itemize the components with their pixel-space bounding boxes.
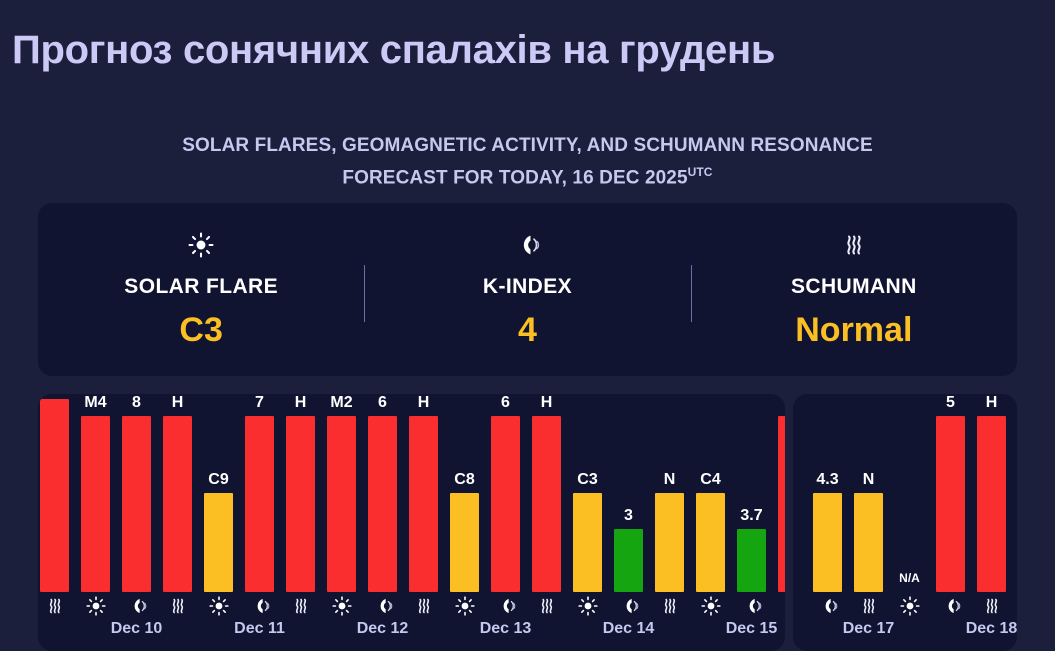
summary-value: 4 — [518, 311, 537, 350]
bar-group: 4.3NN/A — [807, 394, 930, 592]
magnet-icon — [243, 596, 276, 616]
bar[interactable] — [936, 416, 965, 592]
bar[interactable] — [450, 493, 479, 592]
date-row: Dec 17 — [807, 620, 930, 651]
subtitle-line-1: SOLAR FLARES, GEOMAGNETIC ACTIVITY, AND … — [0, 132, 1055, 159]
schumann-icon — [776, 596, 785, 616]
bar[interactable] — [327, 416, 356, 592]
sun-icon — [79, 596, 112, 616]
schumann-icon — [284, 596, 317, 616]
bar-slot[interactable]: C8 — [448, 394, 481, 592]
bar-value-label: H — [172, 394, 184, 411]
date-label: Dec 10 — [111, 620, 163, 638]
bar-slot[interactable]: H — [161, 394, 194, 592]
bar-group: C33N — [567, 394, 690, 592]
bar[interactable] — [532, 416, 561, 592]
schumann-icon — [653, 596, 686, 616]
sun-icon — [571, 596, 604, 616]
metric-icon-row — [198, 592, 321, 620]
date-row: Dec 15 — [690, 620, 785, 651]
schumann-icon — [841, 225, 867, 265]
summary-cell-k-index: K-INDEX4 — [364, 203, 690, 376]
bar[interactable] — [163, 416, 192, 592]
date-label: Dec 15 — [726, 620, 778, 638]
day-column[interactable]: C33NDec 14 — [567, 394, 690, 651]
bar[interactable] — [40, 399, 69, 592]
sun-icon — [202, 596, 235, 616]
magnet-icon — [735, 596, 768, 616]
date-label: Dec 13 — [480, 620, 532, 638]
bar-value-label: H — [541, 394, 553, 411]
date-row: Dec 18 — [930, 620, 1017, 651]
bar-slot[interactable]: H — [407, 394, 440, 592]
metric-icon-row — [930, 592, 1017, 620]
bar-value-label: C9 — [208, 471, 228, 488]
date-row: Dec 12 — [321, 620, 444, 651]
bar-slot[interactable]: 5 — [934, 394, 967, 592]
sun-icon — [188, 225, 214, 265]
date-label: Dec 14 — [603, 620, 655, 638]
bar-slot[interactable]: 8 — [120, 394, 153, 592]
bar-group: M26H — [321, 394, 444, 592]
date-row: Dec 11 — [198, 620, 321, 651]
summary-label: SOLAR FLARE — [124, 275, 278, 299]
subtitle-line-2: FORECAST FOR TODAY, 16 DEC 2025UTC — [0, 159, 1055, 191]
bar-slot[interactable]: H — [975, 394, 1008, 592]
day-columns-main: Dec 09M48HDec 10C97HDec 11M26HDec 12C86H… — [38, 394, 785, 651]
app-root: Прогноз сонячних спалахів на грудень SOL… — [0, 0, 1055, 651]
magnet-icon — [120, 596, 153, 616]
bar[interactable] — [813, 493, 842, 592]
sun-icon — [694, 596, 727, 616]
summary-card: SOLAR FLAREC3K-INDEX4SCHUMANNNormal — [38, 203, 1017, 376]
schumann-icon — [530, 596, 563, 616]
bar-slot[interactable]: 6 — [489, 394, 522, 592]
bar-value-label: N — [664, 471, 676, 488]
day-column[interactable]: 4.3NN/ADec 17 — [807, 394, 930, 651]
summary-label: K-INDEX — [483, 275, 572, 299]
sun-icon — [893, 596, 926, 616]
magnet-icon — [366, 596, 399, 616]
schumann-icon — [975, 596, 1008, 616]
bar-slot[interactable]: N/A — [893, 394, 926, 592]
bar-value-label: N — [863, 471, 875, 488]
schumann-icon — [852, 596, 885, 616]
bar-slot[interactable]: N/A — [1016, 394, 1017, 592]
bar[interactable] — [778, 416, 785, 592]
bar[interactable] — [245, 416, 274, 592]
forecast-subtitle: SOLAR FLARES, GEOMAGNETIC ACTIVITY, AND … — [0, 132, 1055, 191]
bar-group: C86H — [444, 394, 567, 592]
bar-slot[interactable]: 4.3 — [811, 394, 844, 592]
summary-cell-schumann: SCHUMANNNormal — [691, 203, 1017, 376]
bar-group — [38, 394, 75, 592]
date-label: Dec 11 — [234, 620, 285, 638]
bar-slot[interactable]: 6 — [366, 394, 399, 592]
date-row: Dec 13 — [444, 620, 567, 651]
bar-value-label: C3 — [577, 471, 597, 488]
bar[interactable] — [286, 416, 315, 592]
bar[interactable] — [696, 493, 725, 592]
utc-superscript: UTC — [688, 165, 713, 179]
summary-value: Normal — [795, 311, 912, 350]
summary-label: SCHUMANN — [791, 275, 917, 299]
magnet-icon — [612, 596, 645, 616]
date-label: Dec 12 — [357, 620, 409, 638]
date-label: Dec 18 — [966, 620, 1017, 638]
metric-icon-row — [807, 592, 930, 620]
forecast-chart-card-main: Dec 09M48HDec 10C97HDec 11M26HDec 12C86H… — [38, 394, 785, 651]
magnet-icon — [514, 225, 540, 265]
summary-value: C3 — [179, 311, 222, 350]
bar-group: C97H — [198, 394, 321, 592]
bar-slot[interactable]: 3 — [612, 394, 645, 592]
bar-value-label: 4.3 — [816, 471, 838, 488]
metric-icon-row — [690, 592, 785, 620]
metric-icon-row — [321, 592, 444, 620]
sun-icon — [448, 596, 481, 616]
summary-row: SOLAR FLAREC3K-INDEX4SCHUMANNNormal — [38, 203, 1017, 376]
sun-icon — [1016, 596, 1017, 616]
bar[interactable] — [655, 493, 684, 592]
bar[interactable] — [737, 529, 766, 592]
bar-group: C43.7H — [690, 394, 785, 592]
date-row: Dec 14 — [567, 620, 690, 651]
bar-slot[interactable]: M2 — [325, 394, 358, 592]
metric-icon-row — [567, 592, 690, 620]
bar-value-label: N/A — [899, 570, 920, 587]
bar-slot[interactable] — [38, 394, 71, 592]
forecast-chart-card-extra: 4.3NN/ADec 175HN/ADec 18 — [793, 394, 1017, 651]
bar-slot[interactable]: C3 — [571, 394, 604, 592]
bar-slot[interactable]: C9 — [202, 394, 235, 592]
bar-value-label: 6 — [378, 394, 387, 411]
bar[interactable] — [854, 493, 883, 592]
bar-value-label: H — [295, 394, 307, 411]
bar-value-label: M4 — [84, 394, 106, 411]
magnet-icon — [934, 596, 967, 616]
bar-slot[interactable]: C4 — [694, 394, 727, 592]
subtitle-line-2-text: FORECAST FOR TODAY, 16 DEC 2025 — [342, 167, 687, 188]
bar-value-label: 3.7 — [740, 507, 762, 524]
day-column-clipped[interactable]: Dec 09 — [38, 394, 75, 651]
bar-slot[interactable]: N — [852, 394, 885, 592]
summary-cell-solar-flare: SOLAR FLAREC3 — [38, 203, 364, 376]
bar-slot[interactable]: H — [284, 394, 317, 592]
bar-value-label: 5 — [946, 394, 955, 411]
bar-value-label: 8 — [132, 394, 141, 411]
schumann-icon — [38, 596, 71, 616]
day-column[interactable]: M26HDec 12 — [321, 394, 444, 651]
bar-group: M48H — [75, 394, 198, 592]
bar[interactable] — [491, 416, 520, 592]
day-column[interactable]: C43.7HDec 15 — [690, 394, 785, 651]
day-column[interactable]: C86HDec 13 — [444, 394, 567, 651]
bar-slot[interactable]: M4 — [79, 394, 112, 592]
bar[interactable] — [204, 493, 233, 592]
bar[interactable] — [409, 416, 438, 592]
bar-slot[interactable]: H — [776, 394, 785, 592]
metric-icon-row — [75, 592, 198, 620]
bar-value-label: H — [418, 394, 430, 411]
metric-icon-row — [444, 592, 567, 620]
bar-value-label: C8 — [454, 471, 474, 488]
bar-value-label: H — [986, 394, 998, 411]
page-title: Прогноз сонячних спалахів на грудень — [12, 28, 775, 73]
schumann-icon — [161, 596, 194, 616]
day-column[interactable]: M48HDec 10 — [75, 394, 198, 651]
date-row: Dec 10 — [75, 620, 198, 651]
bar[interactable] — [573, 493, 602, 592]
bar-slot[interactable]: 7 — [243, 394, 276, 592]
date-label: Dec 17 — [843, 620, 895, 638]
day-column[interactable]: 5HN/ADec 18 — [930, 394, 1017, 651]
magnet-icon — [489, 596, 522, 616]
bar[interactable] — [81, 416, 110, 592]
bar-value-label: M2 — [330, 394, 352, 411]
bar-slot[interactable]: 3.7 — [735, 394, 768, 592]
sun-icon — [325, 596, 358, 616]
day-columns-extra: 4.3NN/ADec 175HN/ADec 18 — [807, 394, 1017, 651]
bar-value-label: 7 — [255, 394, 264, 411]
bar[interactable] — [977, 416, 1006, 592]
bar[interactable] — [122, 416, 151, 592]
bar-group: 5HN/A — [930, 394, 1017, 592]
bar[interactable] — [614, 529, 643, 592]
magnet-icon — [811, 596, 844, 616]
schumann-icon — [407, 596, 440, 616]
bar-value-label: C4 — [700, 471, 720, 488]
day-column[interactable]: C97HDec 11 — [198, 394, 321, 651]
bar-slot[interactable]: N — [653, 394, 686, 592]
metric-icon-row — [38, 592, 75, 620]
bar-value-label: 6 — [501, 394, 510, 411]
bar-slot[interactable]: H — [530, 394, 563, 592]
bar[interactable] — [368, 416, 397, 592]
bar-value-label: 3 — [624, 507, 633, 524]
